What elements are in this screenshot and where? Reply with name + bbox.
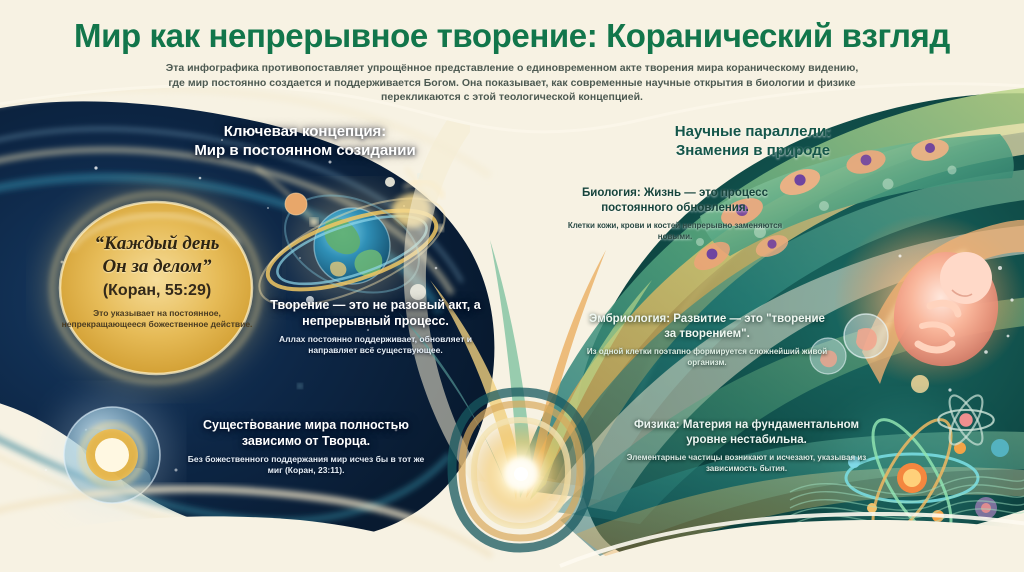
scientific-parallels-heading-line1: Научные параллели: <box>628 122 878 141</box>
block-continuous-process: Творение — это не разовый акт, а непреры… <box>258 298 493 356</box>
biology-body: Клетки кожи, крови и костей непрерывно з… <box>565 221 785 242</box>
quote-caption: Это указывает на постоянное, непрекращаю… <box>52 308 262 330</box>
block-embryology: Эмбриология: Развитие — это "творение за… <box>582 312 832 368</box>
world-dependence-body: Без божественного поддержания мир исчез … <box>186 454 426 476</box>
scientific-parallels-heading-line2: Знамения в природе <box>628 141 878 160</box>
block-world-dependence: Существование мира полностью зависимо от… <box>186 418 426 476</box>
continuous-process-body: Аллах постоянно поддерживает, обновляет … <box>258 334 493 356</box>
section-heading-scientific-parallels: Научные параллели: Знамения в природе <box>628 122 878 160</box>
key-concept-heading-line2: Мир в постоянном созидании <box>155 141 455 160</box>
section-heading-key-concept: Ключевая концепция: Мир в постоянном соз… <box>155 122 455 160</box>
quran-quote-block: “Каждый день Он за делом” (Коран, 55:29)… <box>52 232 262 330</box>
block-biology: Биология: Жизнь — это процесс постоянног… <box>565 186 785 242</box>
biology-heading: Биология: Жизнь — это процесс постоянног… <box>565 186 785 215</box>
physics-heading: Физика: Материя на фундаментальном уровн… <box>624 418 869 447</box>
key-concept-heading-line1: Ключевая концепция: <box>155 122 455 141</box>
infographic-canvas: Мир как непрерывное творение: Кораническ… <box>0 0 1024 572</box>
physics-body: Элементарные частицы возникают и исчезаю… <box>624 453 869 474</box>
quote-reference: (Коран, 55:29) <box>52 280 262 301</box>
continuous-process-heading: Творение — это не разовый акт, а непреры… <box>258 298 493 329</box>
block-physics: Физика: Материя на фундаментальном уровн… <box>624 418 869 474</box>
quote-text-line2: Он за делом” <box>52 255 262 278</box>
embryology-body: Из одной клетки поэтапно формируется сло… <box>582 347 832 368</box>
quote-text-line1: “Каждый день <box>52 232 262 255</box>
world-dependence-heading: Существование мира полностью зависимо от… <box>186 418 426 449</box>
embryology-heading: Эмбриология: Развитие — это "творение за… <box>582 312 832 341</box>
